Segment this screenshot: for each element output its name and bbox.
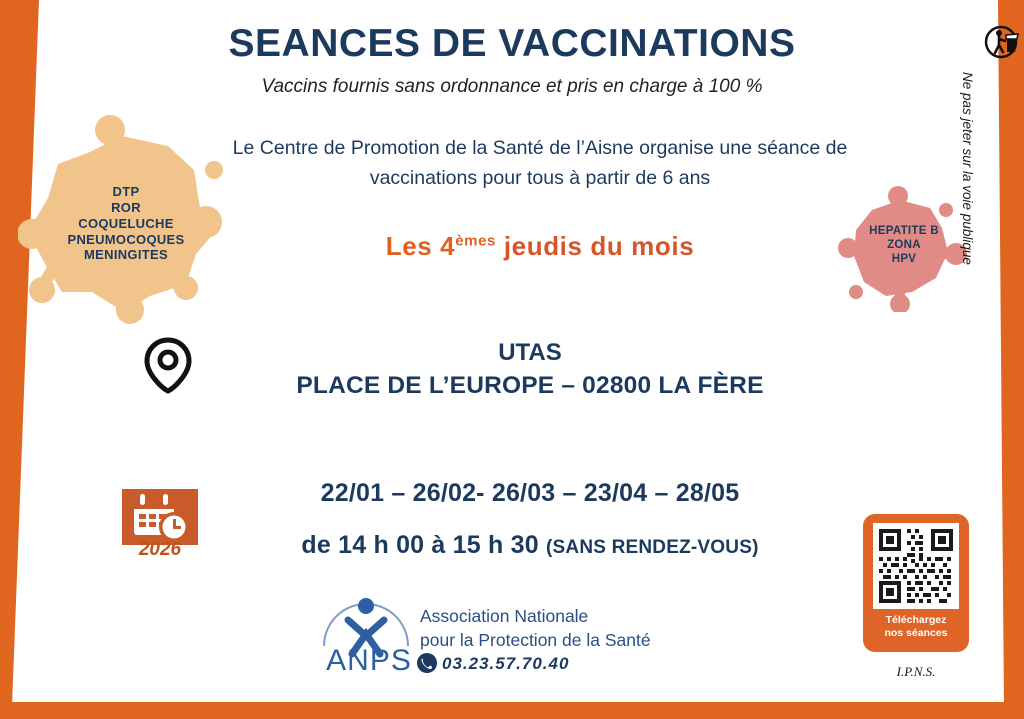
qr-download-card[interactable]: Téléchargez nos séances bbox=[863, 514, 969, 652]
tidyman-icon bbox=[984, 22, 1020, 62]
poster-canvas: SEANCES DE VACCINATIONS Vaccins fournis … bbox=[0, 0, 1024, 719]
virus-graphic-left: DTP ROR COQUELUCHE PNEUMOCOQUES MENINGIT… bbox=[18, 112, 234, 324]
association-phone: 03.23.57.70.40 bbox=[442, 654, 569, 674]
session-dates: 22/01 – 26/02- 26/03 – 23/04 – 28/05 bbox=[240, 479, 820, 508]
qr-caption-line1: Téléchargez bbox=[863, 614, 969, 627]
schedule-ordinal-suffix: èmes bbox=[455, 232, 496, 249]
session-hours: de 14 h 00 à 15 h 30 (SANS RENDEZ-VOUS) bbox=[240, 531, 820, 560]
schedule-headline: Les 4èmes jeudis du mois bbox=[170, 231, 910, 262]
border-band-left bbox=[0, 0, 42, 719]
schedule-prefix: Les 4 bbox=[386, 231, 456, 261]
session-hours-note: (SANS RENDEZ-VOUS) bbox=[546, 537, 759, 558]
association-name: Association Nationale pour la Protection… bbox=[420, 604, 651, 652]
border-band-bottom bbox=[0, 702, 1024, 719]
virus-right-label: HEPATITE B ZONA HPV bbox=[838, 224, 970, 266]
schedule-suffix: jeudis du mois bbox=[496, 231, 694, 261]
calendar-clock-icon bbox=[122, 489, 198, 545]
qr-code-icon bbox=[873, 523, 959, 609]
qr-caption: Téléchargez nos séances bbox=[863, 614, 969, 640]
virus-left-label: DTP ROR COQUELUCHE PNEUMOCOQUES MENINGIT… bbox=[18, 184, 234, 263]
phone-icon bbox=[416, 652, 438, 674]
association-block: ANPS Association Nationale pour la Prote… bbox=[318, 592, 698, 684]
calendar-year-label: 2026 bbox=[112, 539, 208, 561]
page-title: SEANCES DE VACCINATIONS bbox=[0, 22, 1024, 66]
virus-graphic-right: HEPATITE B ZONA HPV bbox=[838, 186, 970, 312]
ipns-label: I.P.N.S. bbox=[860, 664, 972, 680]
side-notice-text: Ne pas jeter sur la voie publique bbox=[960, 72, 975, 312]
page-subtitle: Vaccins fournis sans ordonnance et pris … bbox=[0, 76, 1024, 98]
session-hours-main: de 14 h 00 à 15 h 30 bbox=[301, 531, 546, 559]
qr-caption-line2: nos séances bbox=[863, 627, 969, 640]
association-name-line2: pour la Protection de la Santé bbox=[420, 628, 651, 652]
intro-text: Le Centre de Promotion de la Santé de l’… bbox=[180, 133, 900, 193]
border-band-right bbox=[978, 0, 1024, 719]
location-name: UTAS bbox=[180, 336, 880, 369]
association-name-line1: Association Nationale bbox=[420, 604, 651, 628]
location-address: PLACE DE L’EUROPE – 02800 LA FÈRE bbox=[180, 369, 880, 402]
anps-acronym: ANPS bbox=[324, 644, 414, 678]
location-block: UTAS PLACE DE L’EUROPE – 02800 LA FÈRE bbox=[180, 336, 880, 402]
